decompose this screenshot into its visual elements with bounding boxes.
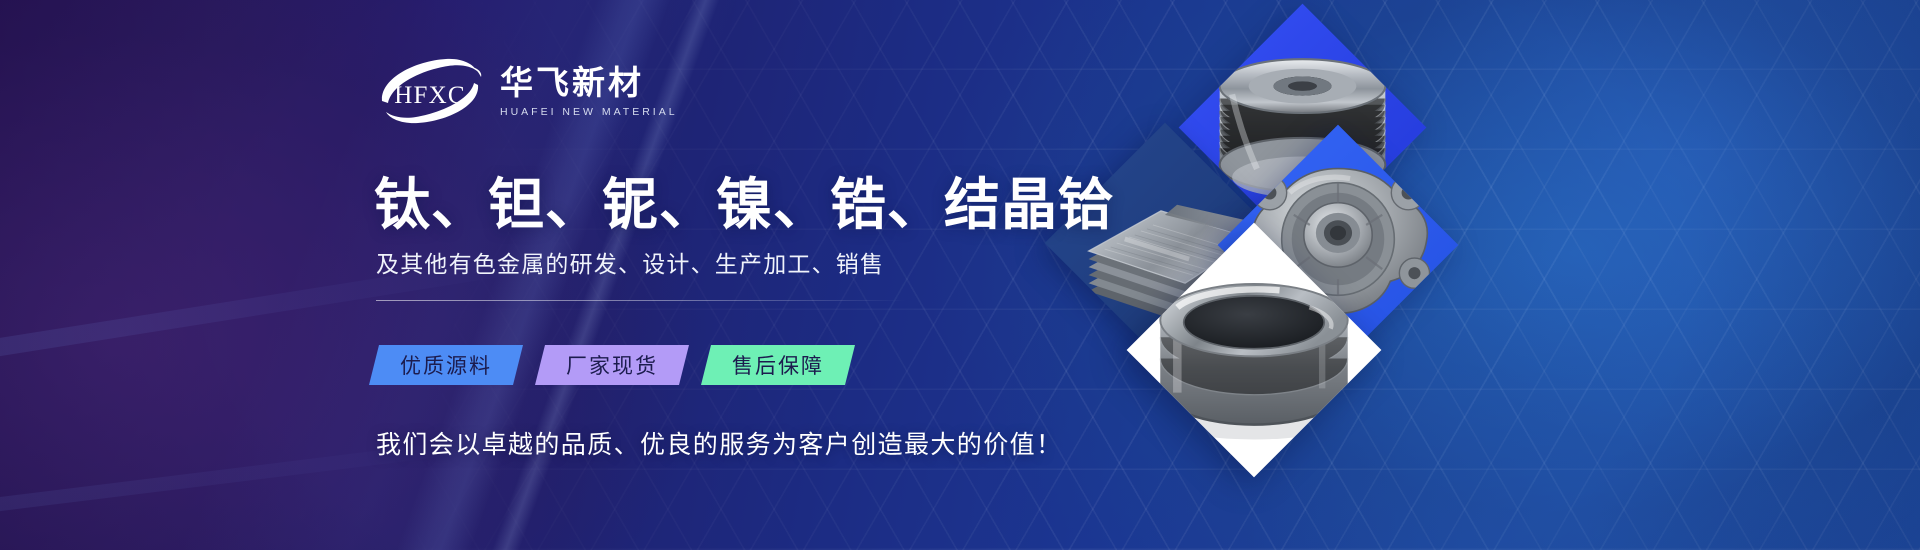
logo-company-en: HUAFEI NEW MATERIAL	[500, 106, 678, 118]
feature-badge-group: 优质源料 厂家现货 售后保障	[374, 345, 850, 385]
content-divider	[376, 300, 906, 301]
logo-mark-text: HFXC	[394, 82, 466, 109]
feature-badge-after-sales[interactable]: 售后保障	[701, 345, 855, 385]
feature-badge-quality-source[interactable]: 优质源料	[369, 345, 523, 385]
logo-swoosh-icon: HFXC	[374, 55, 486, 127]
hero-banner: HFXC 华飞新材 HUAFEI NEW MATERIAL 钛、钽、铌、镍、锆、…	[0, 0, 1920, 550]
feature-badge-label: 优质源料	[400, 350, 492, 380]
hero-headline: 钛、钽、铌、镍、锆、结晶铪	[374, 160, 1115, 241]
hero-tagline: 我们会以卓越的品质、优良的服务为客户创造最大的价值！	[376, 425, 1062, 461]
hero-subtitle: 及其他有色金属的研发、设计、生产加工、销售	[376, 245, 884, 279]
feature-badge-label: 厂家现货	[566, 350, 658, 380]
feature-badge-factory-stock[interactable]: 厂家现货	[535, 345, 689, 385]
banner-content: HFXC 华飞新材 HUAFEI NEW MATERIAL 钛、钽、铌、镍、锆、…	[374, 0, 1194, 550]
company-logo[interactable]: HFXC 华飞新材 HUAFEI NEW MATERIAL	[374, 55, 678, 127]
feature-badge-label: 售后保障	[732, 350, 824, 380]
logo-wordmark: 华飞新材 HUAFEI NEW MATERIAL	[500, 64, 678, 119]
logo-company-cn: 华飞新材	[500, 66, 678, 101]
